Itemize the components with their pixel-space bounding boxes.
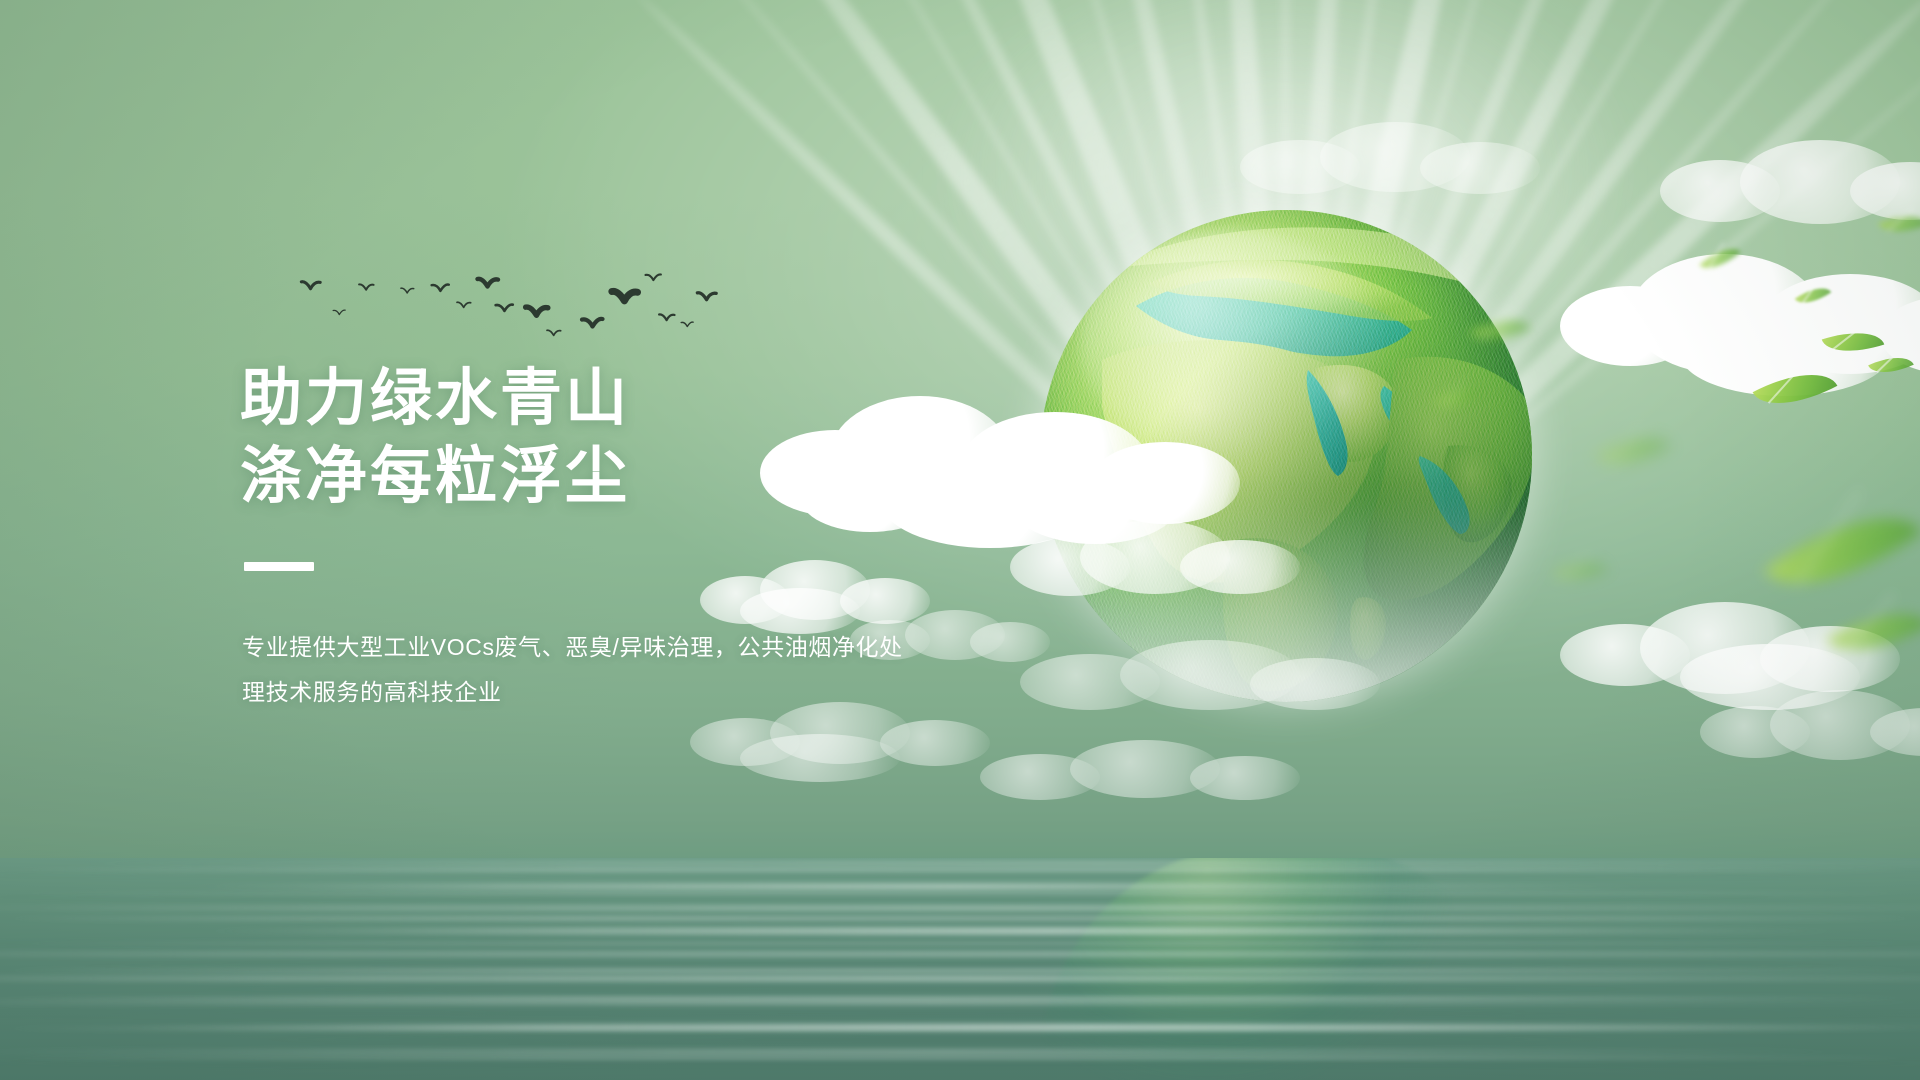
water-ripple <box>195 928 1854 934</box>
water-ripple <box>0 1012 1920 1015</box>
bird-icon <box>400 287 415 296</box>
bird-icon <box>580 317 604 331</box>
eco-hero-banner: 助力绿水青山 涤净每粒浮尘 专业提供大型工业VOCs废气、恶臭/异味治理，公共油… <box>0 0 1920 1080</box>
water-ripple <box>44 862 1920 865</box>
bird-icon <box>524 305 550 320</box>
headline-line-2: 涤净每粒浮尘 <box>240 438 1140 516</box>
bird-icon <box>332 309 346 317</box>
bird-icon <box>610 289 640 307</box>
bird-icon <box>696 291 718 304</box>
reflection-ripple <box>0 1056 1920 1060</box>
water-ripple <box>106 1024 1920 1030</box>
water-ripple <box>99 988 1758 990</box>
bird-icon <box>300 280 322 293</box>
bird-icon <box>658 313 676 324</box>
bird-icon <box>680 321 694 329</box>
water-ripple <box>14 964 1920 967</box>
reflection-ripple <box>0 868 1920 872</box>
water-ripple <box>0 976 1920 981</box>
water-surface <box>0 858 1920 1080</box>
water-ripple <box>0 1000 1920 1004</box>
reflection-ripple <box>0 968 1920 973</box>
flying-birds-flock <box>280 225 760 350</box>
hero-copy: 助力绿水青山 涤净每粒浮尘 专业提供大型工业VOCs废气、恶臭/异味治理，公共油… <box>240 360 1140 715</box>
bird-icon <box>358 283 375 293</box>
hero-subtitle: 专业提供大型工业VOCs废气、恶臭/异味治理，公共油烟净化处理技术服务的高科技企… <box>242 625 912 715</box>
bird-icon <box>644 273 662 284</box>
reflection-ripple <box>0 892 1920 895</box>
water-ripple <box>0 942 1920 944</box>
headline-divider-rule <box>244 562 314 571</box>
bird-icon <box>494 303 514 315</box>
water-ripple <box>0 1050 1884 1054</box>
bird-icon <box>476 277 500 291</box>
water-ripple <box>227 918 1679 921</box>
water-ripple <box>176 884 1669 889</box>
water-ripple <box>0 1062 1920 1065</box>
headline-line-1: 助力绿水青山 <box>240 360 1140 438</box>
water-ripple <box>0 906 1920 910</box>
bird-icon <box>430 283 450 295</box>
bird-icon <box>456 301 472 310</box>
water-ripple <box>0 896 1882 898</box>
water-ripple <box>0 952 1920 956</box>
water-ripple <box>213 1038 1665 1041</box>
water-ripple <box>0 874 1920 876</box>
bird-icon <box>546 329 562 338</box>
